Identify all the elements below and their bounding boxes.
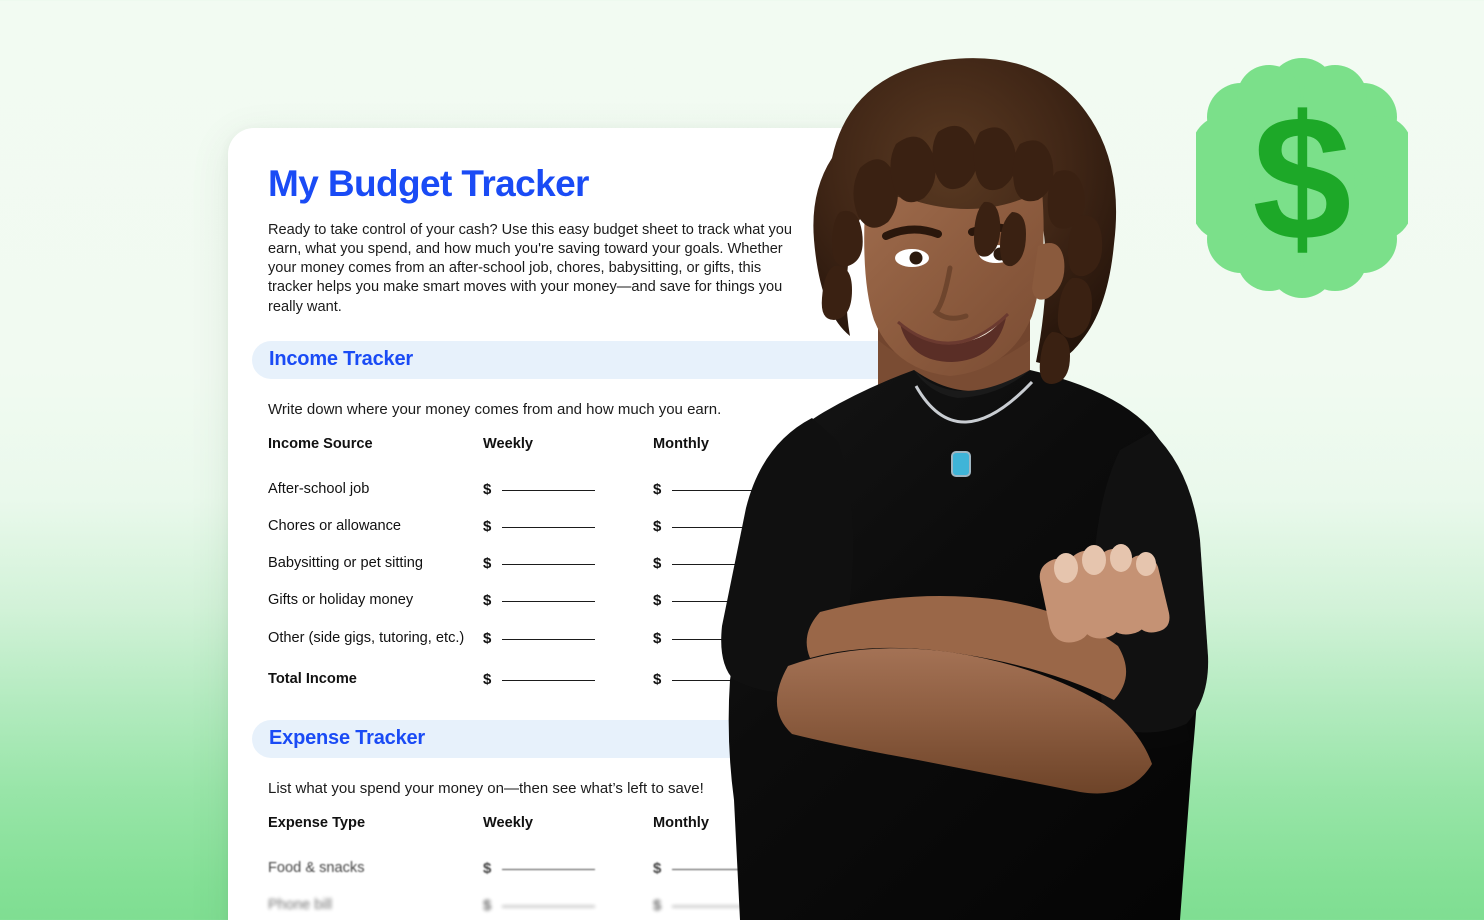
write-in-line[interactable] — [502, 639, 595, 640]
write-in-line[interactable] — [502, 490, 595, 491]
income-weekly-field[interactable]: $ — [483, 481, 653, 498]
income-row-label: Chores or allowance — [268, 518, 483, 535]
expense-col-type: Expense Type — [268, 815, 483, 840]
expense-weekly-field[interactable]: $ — [483, 897, 653, 914]
section-heading-expense: Expense Tracker — [252, 727, 425, 750]
income-row-label: Other (side gigs, tutoring, etc.) — [268, 630, 483, 647]
currency-symbol: $ — [483, 555, 502, 572]
currency-symbol: $ — [483, 481, 502, 498]
currency-symbol: $ — [653, 555, 672, 572]
currency-symbol: $ — [483, 897, 502, 914]
photo-young-man — [700, 40, 1240, 920]
dollar-sign-icon: $ — [1253, 79, 1352, 278]
income-row-label: Gifts or holiday money — [268, 592, 483, 609]
income-weekly-field[interactable]: $ — [483, 592, 653, 609]
currency-symbol: $ — [483, 592, 502, 609]
currency-symbol: $ — [653, 860, 672, 877]
dollar-badge: $ — [1196, 56, 1408, 300]
income-total-weekly-field[interactable]: $ — [483, 671, 653, 688]
write-in-line[interactable] — [502, 564, 595, 565]
income-row-label: Babysitting or pet sitting — [268, 555, 483, 572]
currency-symbol: $ — [653, 518, 672, 535]
write-in-line[interactable] — [502, 680, 595, 681]
income-col-source: Income Source — [268, 436, 483, 461]
currency-symbol: $ — [653, 481, 672, 498]
income-weekly-field[interactable]: $ — [483, 555, 653, 572]
currency-symbol: $ — [653, 592, 672, 609]
currency-symbol: $ — [653, 630, 672, 647]
currency-symbol: $ — [483, 671, 502, 688]
write-in-line[interactable] — [502, 906, 595, 907]
income-total-label: Total Income — [268, 671, 483, 688]
expense-col-weekly: Weekly — [483, 815, 653, 839]
write-in-line[interactable] — [502, 869, 595, 870]
income-row-label: After-school job — [268, 481, 483, 498]
currency-symbol: $ — [483, 860, 502, 877]
write-in-line[interactable] — [502, 527, 595, 528]
income-weekly-field[interactable]: $ — [483, 630, 653, 647]
section-heading-income: Income Tracker — [252, 348, 413, 371]
income-col-weekly: Weekly — [483, 436, 653, 460]
currency-symbol: $ — [653, 671, 672, 688]
expense-row-label: Phone bill — [268, 897, 483, 914]
currency-symbol: $ — [483, 630, 502, 647]
currency-symbol: $ — [483, 518, 502, 535]
expense-row-label: Food & snacks — [268, 860, 483, 877]
expense-weekly-field[interactable]: $ — [483, 860, 653, 877]
currency-symbol: $ — [653, 897, 672, 914]
write-in-line[interactable] — [502, 601, 595, 602]
income-weekly-field[interactable]: $ — [483, 518, 653, 535]
